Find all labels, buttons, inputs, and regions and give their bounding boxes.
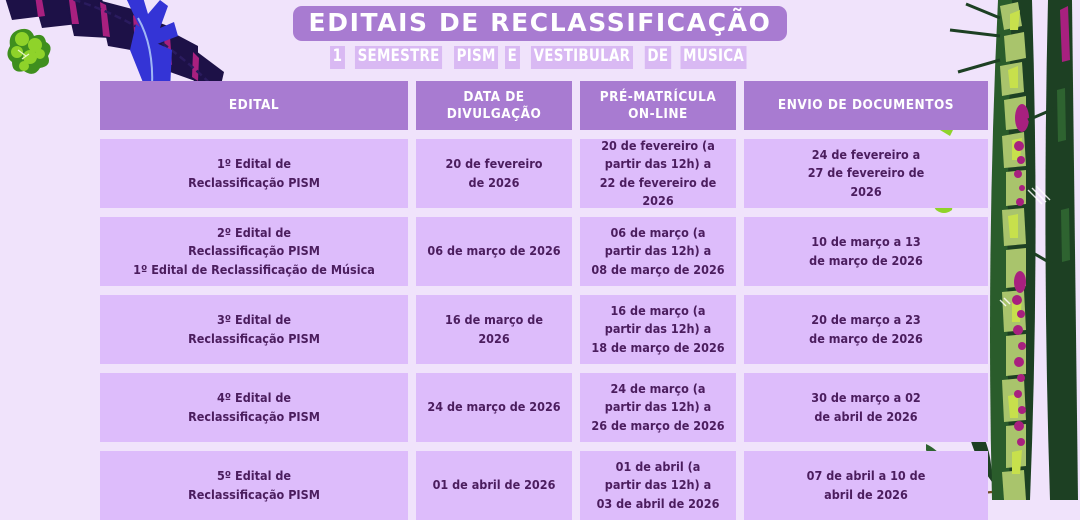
cell-edital: 3º Edital deReclassificação PISM bbox=[100, 295, 408, 364]
text-line: 26 de março de 2026 bbox=[591, 417, 724, 435]
text-line: 07 de abril a 10 de bbox=[807, 467, 926, 485]
text-line: DIVULGAÇÃO bbox=[447, 106, 542, 123]
text-line: 2026 bbox=[808, 183, 925, 201]
schedule-table: EDITAL DATA DEDIVULGAÇÃO PRÉ-MATRÍCULAON… bbox=[100, 81, 980, 520]
column-header-pre-matricula: PRÉ-MATRÍCULAON-LINE bbox=[580, 81, 736, 130]
cell-prematricula: 20 de fevereiro (apartir das 12h) a22 de… bbox=[580, 139, 736, 208]
text-line: Reclassificação PISM bbox=[188, 330, 320, 348]
text-line: PRÉ-MATRÍCULA bbox=[600, 89, 717, 106]
text-line: 27 de fevereiro de bbox=[808, 164, 925, 182]
infographic-root: EDITAIS DE RECLASSIFICAÇÃO 1 SEMESTRE PI… bbox=[0, 0, 1080, 500]
header-lines: DATA DEDIVULGAÇÃO bbox=[447, 89, 542, 123]
cell-divulgacao: 01 de abril de 2026 bbox=[416, 451, 572, 520]
heading-block: EDITAIS DE RECLASSIFICAÇÃO 1 SEMESTRE PI… bbox=[0, 6, 1080, 69]
table-row: 3º Edital deReclassificação PISM 16 de m… bbox=[100, 295, 980, 364]
cell-divulgacao: 16 de março de2026 bbox=[416, 295, 572, 364]
text-line: 4º Edital de bbox=[188, 389, 320, 407]
text-line: de março de 2026 bbox=[809, 330, 923, 348]
text-line: 16 de março de bbox=[445, 311, 543, 329]
text-line: 01 de abril (a bbox=[597, 458, 720, 476]
text-line: 06 de março (a bbox=[591, 224, 724, 242]
header-lines: EDITAL bbox=[229, 97, 279, 114]
text-line: 1º Edital de bbox=[188, 155, 320, 173]
table-header-row: EDITAL DATA DEDIVULGAÇÃO PRÉ-MATRÍCULAON… bbox=[100, 81, 980, 130]
text-line: Reclassificação PISM bbox=[188, 174, 320, 192]
column-header-edital: EDITAL bbox=[100, 81, 408, 130]
subtitle-word: PISM bbox=[454, 46, 498, 69]
text-line: 3º Edital de bbox=[188, 311, 320, 329]
cell-prematricula: 16 de março (apartir das 12h) a18 de mar… bbox=[580, 295, 736, 364]
text-line: 1º Edital de Reclassificação de Música bbox=[133, 261, 375, 279]
subtitle-word: MUSICA bbox=[680, 46, 746, 69]
cell-prematricula: 06 de março (apartir das 12h) a08 de mar… bbox=[580, 217, 736, 286]
text-line: 20 de março a 23 bbox=[809, 311, 923, 329]
text-line: EDITAL bbox=[229, 97, 279, 114]
text-line: 22 de fevereiro de 2026 bbox=[588, 174, 728, 210]
cell-divulgacao: 24 de março de 2026 bbox=[416, 373, 572, 442]
text-line: 24 de março de 2026 bbox=[427, 398, 560, 416]
subtitle-word: DE bbox=[645, 46, 671, 69]
text-line: partir das 12h) a bbox=[597, 476, 720, 494]
cell-divulgacao: 06 de março de 2026 bbox=[416, 217, 572, 286]
cell-documentos: 30 de março a 02de abril de 2026 bbox=[744, 373, 988, 442]
cell-edital: 1º Edital deReclassificação PISM bbox=[100, 139, 408, 208]
cell-documentos: 20 de março a 23de março de 2026 bbox=[744, 295, 988, 364]
text-line: 06 de março de 2026 bbox=[427, 242, 560, 260]
table-row: 4º Edital deReclassificação PISM 24 de m… bbox=[100, 373, 980, 442]
cell-prematricula: 24 de março (apartir das 12h) a26 de mar… bbox=[580, 373, 736, 442]
text-line: 2º Edital de bbox=[133, 224, 375, 242]
table-row: 1º Edital deReclassificação PISM 20 de f… bbox=[100, 139, 980, 208]
cell-edital: 5º Edital deReclassificação PISM bbox=[100, 451, 408, 520]
text-line: partir das 12h) a bbox=[591, 242, 724, 260]
text-line: 2026 bbox=[445, 330, 543, 348]
cell-documentos: 10 de março a 13de março de 2026 bbox=[744, 217, 988, 286]
text-line: de março de 2026 bbox=[809, 252, 923, 270]
text-line: 20 de fevereiro bbox=[446, 155, 543, 173]
header-lines: PRÉ-MATRÍCULAON-LINE bbox=[600, 89, 717, 123]
cell-edital: 4º Edital deReclassificação PISM bbox=[100, 373, 408, 442]
text-line: 01 de abril de 2026 bbox=[433, 476, 556, 494]
text-line: 24 de fevereiro a bbox=[808, 146, 925, 164]
page-subtitle: 1 SEMESTRE PISM E VESTIBULAR DE MUSICA bbox=[329, 46, 751, 69]
text-line: de abril de 2026 bbox=[811, 408, 920, 426]
cell-documentos: 24 de fevereiro a27 de fevereiro de2026 bbox=[744, 139, 988, 208]
text-line: 03 de abril de 2026 bbox=[597, 495, 720, 513]
text-line: de 2026 bbox=[446, 174, 543, 192]
text-line: DATA DE bbox=[447, 89, 542, 106]
text-line: 24 de março (a bbox=[591, 380, 724, 398]
text-line: 10 de março a 13 bbox=[809, 233, 923, 251]
text-line: 20 de fevereiro (a bbox=[588, 137, 728, 155]
table-row: 5º Edital deReclassificação PISM 01 de a… bbox=[100, 451, 980, 520]
page-title: EDITAIS DE RECLASSIFICAÇÃO bbox=[293, 6, 788, 41]
subtitle-word: E bbox=[505, 46, 520, 69]
text-line: ENVIO DE DOCUMENTOS bbox=[778, 97, 954, 114]
text-line: 16 de março (a bbox=[591, 302, 724, 320]
table-row: 2º Edital deReclassificação PISM1º Edita… bbox=[100, 217, 980, 286]
text-line: 30 de março a 02 bbox=[811, 389, 920, 407]
text-line: Reclassificação PISM bbox=[188, 486, 320, 504]
header-lines: ENVIO DE DOCUMENTOS bbox=[778, 97, 954, 114]
text-line: partir das 12h) a bbox=[588, 155, 728, 173]
cell-edital: 2º Edital deReclassificação PISM1º Edita… bbox=[100, 217, 408, 286]
text-line: Reclassificação PISM bbox=[188, 408, 320, 426]
subtitle-word: 1 bbox=[330, 46, 345, 69]
text-line: 08 de março de 2026 bbox=[591, 261, 724, 279]
text-line: partir das 12h) a bbox=[591, 320, 724, 338]
text-line: partir das 12h) a bbox=[591, 398, 724, 416]
text-line: Reclassificação PISM bbox=[133, 242, 375, 260]
cell-documentos: 07 de abril a 10 deabril de 2026 bbox=[744, 451, 988, 520]
subtitle-word: VESTIBULAR bbox=[531, 46, 633, 69]
column-header-data-divulgacao: DATA DEDIVULGAÇÃO bbox=[416, 81, 572, 130]
cell-divulgacao: 20 de fevereirode 2026 bbox=[416, 139, 572, 208]
subtitle-word: SEMESTRE bbox=[355, 46, 442, 69]
text-line: 18 de março de 2026 bbox=[591, 339, 724, 357]
text-line: abril de 2026 bbox=[807, 486, 926, 504]
text-line: ON-LINE bbox=[600, 106, 717, 123]
column-header-envio-documentos: ENVIO DE DOCUMENTOS bbox=[744, 81, 988, 130]
cell-prematricula: 01 de abril (apartir das 12h) a03 de abr… bbox=[580, 451, 736, 520]
text-line: 5º Edital de bbox=[188, 467, 320, 485]
